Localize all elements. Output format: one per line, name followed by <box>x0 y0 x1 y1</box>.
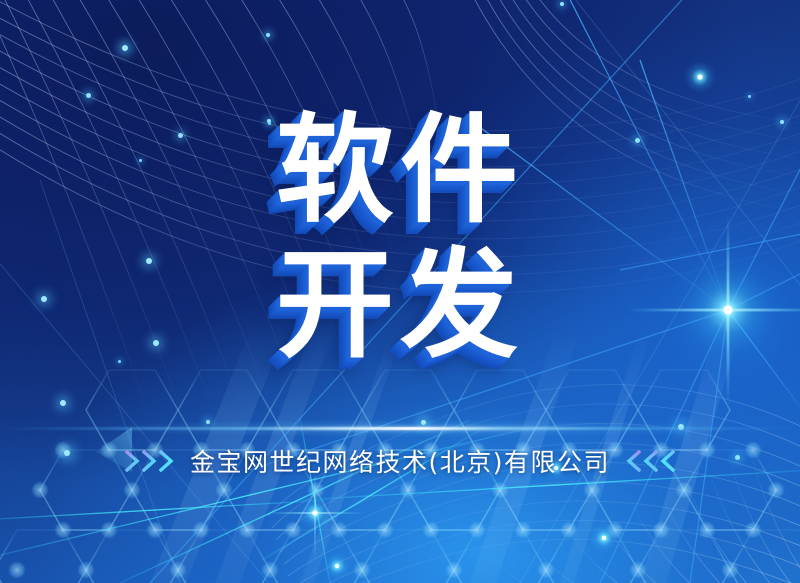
chevron-right-icon <box>125 450 140 472</box>
wave-mesh-family-d <box>268 385 800 583</box>
title-line-2: 开发 <box>0 231 800 380</box>
chevron-right-icon <box>159 450 174 472</box>
chevron-left-icon <box>643 450 658 472</box>
title-line-1: 软件 <box>0 96 800 245</box>
chevrons-left-group <box>626 450 675 472</box>
company-name-subtitle: 金宝网世纪网络技术(北京)有限公司 <box>190 443 610 479</box>
starburst-node-secondary <box>684 61 716 93</box>
chevron-right-icon <box>142 450 157 472</box>
subtitle-row: 金宝网世纪网络技术(北京)有限公司 <box>0 443 800 479</box>
starburst-node-bottom-right <box>589 523 619 553</box>
starburst-node-lower <box>265 468 365 560</box>
chevron-left-icon <box>660 450 675 472</box>
chevrons-right-group <box>125 450 174 472</box>
separator-light-streak <box>0 427 800 430</box>
chevron-left-icon <box>626 450 641 472</box>
glow-particle <box>60 400 66 406</box>
glow-particle <box>266 33 270 37</box>
title-block: 软件 开发 <box>0 96 800 379</box>
software-development-banner: 软件 开发 <box>0 0 800 583</box>
glow-particle <box>560 2 564 6</box>
starburst-node-bottom-left <box>323 552 351 580</box>
glow-particle <box>122 45 128 51</box>
